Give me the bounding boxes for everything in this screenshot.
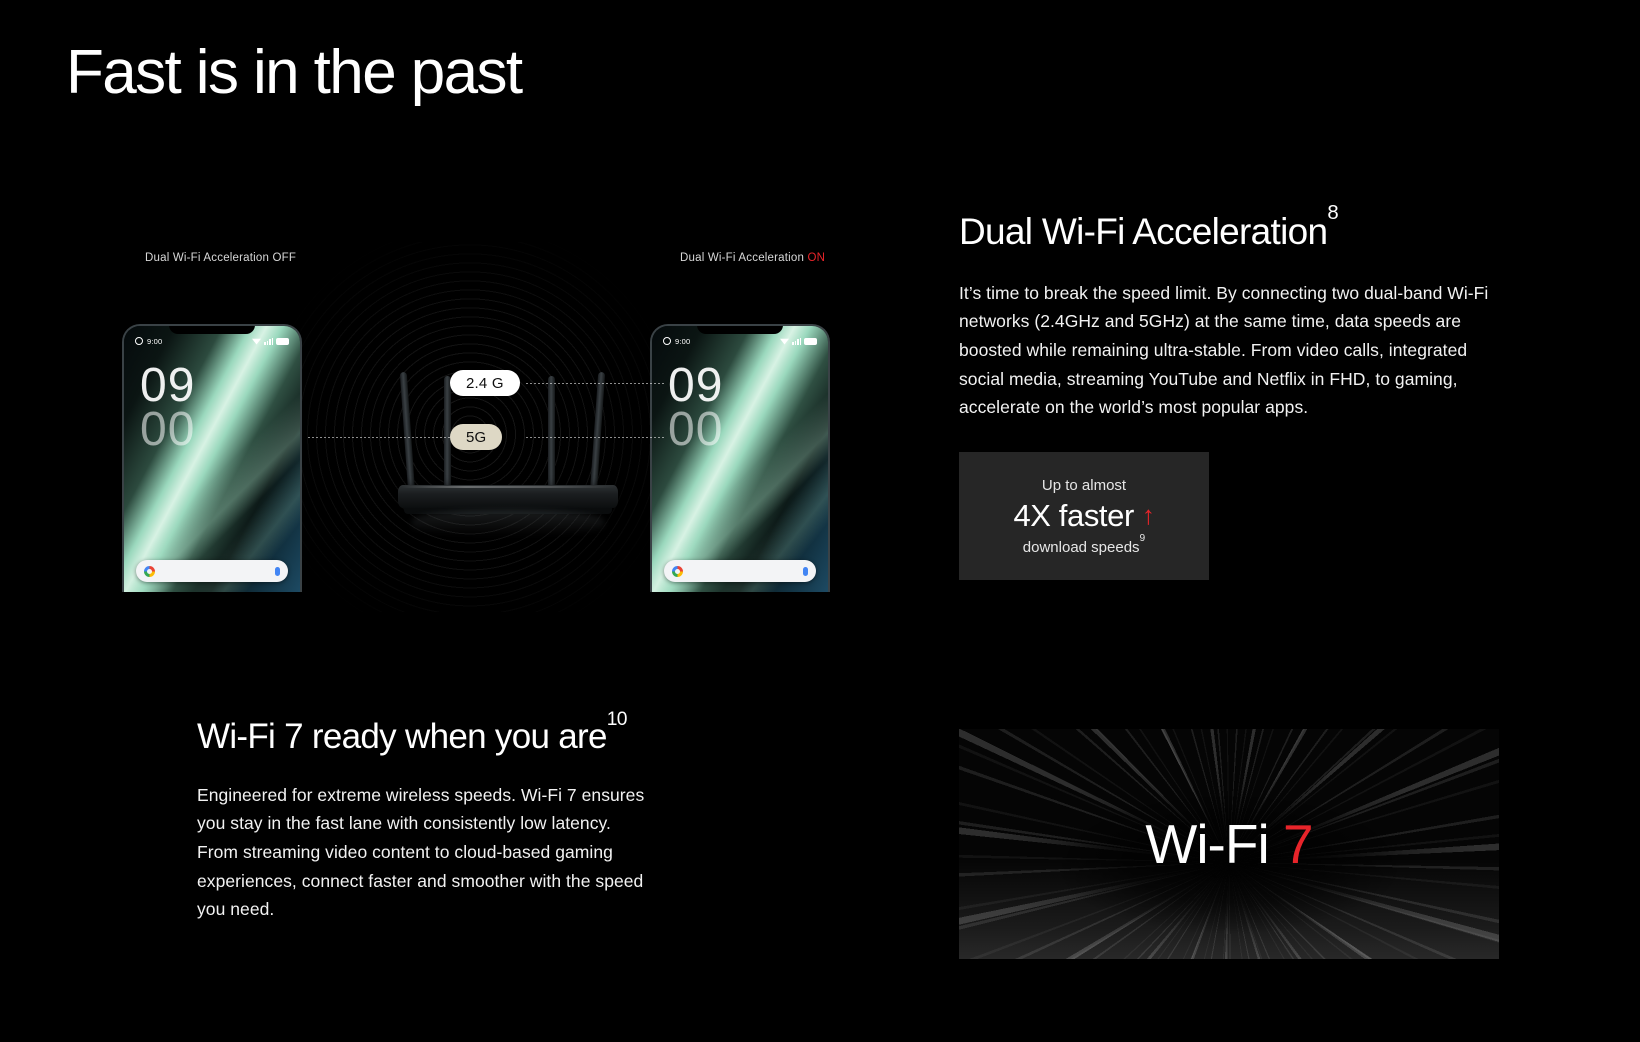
clock-minutes: 00 — [140, 408, 195, 452]
status-time: 9:00 — [147, 337, 162, 346]
label-acceleration-on: Dual Wi-Fi Acceleration ON — [680, 252, 825, 264]
page-root: Fast is in the past Dual Wi-Fi Accelerat… — [0, 0, 1640, 1042]
section-dual-wifi-acceleration: Dual Wi-Fi Acceleration8 It’s time to br… — [959, 212, 1489, 580]
signal-bars-icon — [264, 338, 273, 345]
wifi7-banner-image: Wi-Fi 7 — [959, 729, 1499, 959]
stat-value-row: 4X faster ↑ — [1013, 498, 1154, 534]
wifi7-banner-label: Wi-Fi 7 — [959, 812, 1499, 876]
dual-wifi-illustration: Dual Wi-Fi Acceleration OFF Dual Wi-Fi A… — [60, 232, 860, 622]
lockscreen-clock: 09 00 — [140, 364, 195, 452]
stat-caption-bottom: download speeds9 — [1023, 538, 1145, 556]
dual-wifi-heading-footnote: 8 — [1327, 202, 1338, 224]
clock-hours: 09 — [668, 364, 723, 408]
signal-bars-icon — [792, 338, 801, 345]
router-antenna — [548, 376, 555, 494]
wifi7-banner-word: Wi-Fi — [1145, 813, 1283, 875]
status-time: 9:00 — [675, 337, 690, 346]
google-logo-icon — [672, 566, 683, 577]
microphone-icon[interactable] — [275, 567, 280, 576]
label-on-state: ON — [808, 252, 826, 264]
clock-hours: 09 — [140, 364, 195, 408]
dual-wifi-heading-text: Dual Wi-Fi Acceleration — [959, 211, 1327, 252]
microphone-icon[interactable] — [803, 567, 808, 576]
phone-mockup-off: 9:00 09 00 — [122, 324, 302, 592]
dual-wifi-heading: Dual Wi-Fi Acceleration8 — [959, 212, 1489, 253]
label-on-prefix: Dual Wi-Fi Acceleration — [680, 252, 808, 264]
connection-line-5g-left — [308, 437, 450, 438]
battery-icon — [276, 338, 289, 345]
google-logo-icon — [144, 566, 155, 577]
phone-mockup-on: 9:00 09 00 — [650, 324, 830, 592]
wifi7-heading-footnote: 10 — [607, 709, 627, 730]
stat-caption-top: Up to almost — [1042, 477, 1126, 494]
band-pill-5g: 5G — [450, 424, 502, 450]
camera-dot-icon — [135, 337, 143, 345]
wifi-icon — [780, 338, 789, 345]
clock-minutes: 00 — [668, 408, 723, 452]
section-wifi7: Wi-Fi 7 ready when you are10 Engineered … — [197, 718, 757, 924]
wifi7-heading: Wi-Fi 7 ready when you are10 — [197, 718, 757, 757]
page-title: Fast is in the past — [66, 40, 522, 105]
stat-card-download-speed: Up to almost 4X faster ↑ download speeds… — [959, 452, 1209, 580]
wifi7-body: Engineered for extreme wireless speeds. … — [197, 781, 649, 924]
router-graphic — [398, 338, 618, 538]
stat-caption-bottom-text: download speeds — [1023, 539, 1140, 556]
router-antenna — [590, 372, 605, 494]
stat-caption-footnote: 9 — [1140, 533, 1146, 544]
stat-value: 4X faster — [1013, 498, 1133, 534]
phone-status-bar: 9:00 — [652, 334, 828, 348]
wifi7-banner-number: 7 — [1283, 813, 1313, 875]
status-indicators — [252, 338, 289, 345]
google-search-bar[interactable] — [136, 560, 288, 582]
label-acceleration-off: Dual Wi-Fi Acceleration OFF — [145, 252, 296, 264]
connection-line-5g-right — [526, 437, 666, 438]
router-body — [398, 485, 618, 508]
router-antenna — [400, 372, 415, 494]
dual-wifi-body: It’s time to break the speed limit. By c… — [959, 279, 1489, 422]
up-arrow-icon: ↑ — [1142, 502, 1155, 528]
wifi-icon — [252, 338, 261, 345]
router-reflection — [412, 510, 604, 536]
phone-notch — [169, 325, 255, 334]
phone-notch — [697, 325, 783, 334]
battery-icon — [804, 338, 817, 345]
lockscreen-clock: 09 00 — [668, 364, 723, 452]
connection-line-24g — [526, 383, 666, 384]
google-search-bar[interactable] — [664, 560, 816, 582]
phone-status-bar: 9:00 — [124, 334, 300, 348]
wifi7-heading-text: Wi-Fi 7 ready when you are — [197, 717, 607, 756]
band-pill-2-4g: 2.4 G — [450, 370, 520, 396]
status-indicators — [780, 338, 817, 345]
camera-dot-icon — [663, 337, 671, 345]
